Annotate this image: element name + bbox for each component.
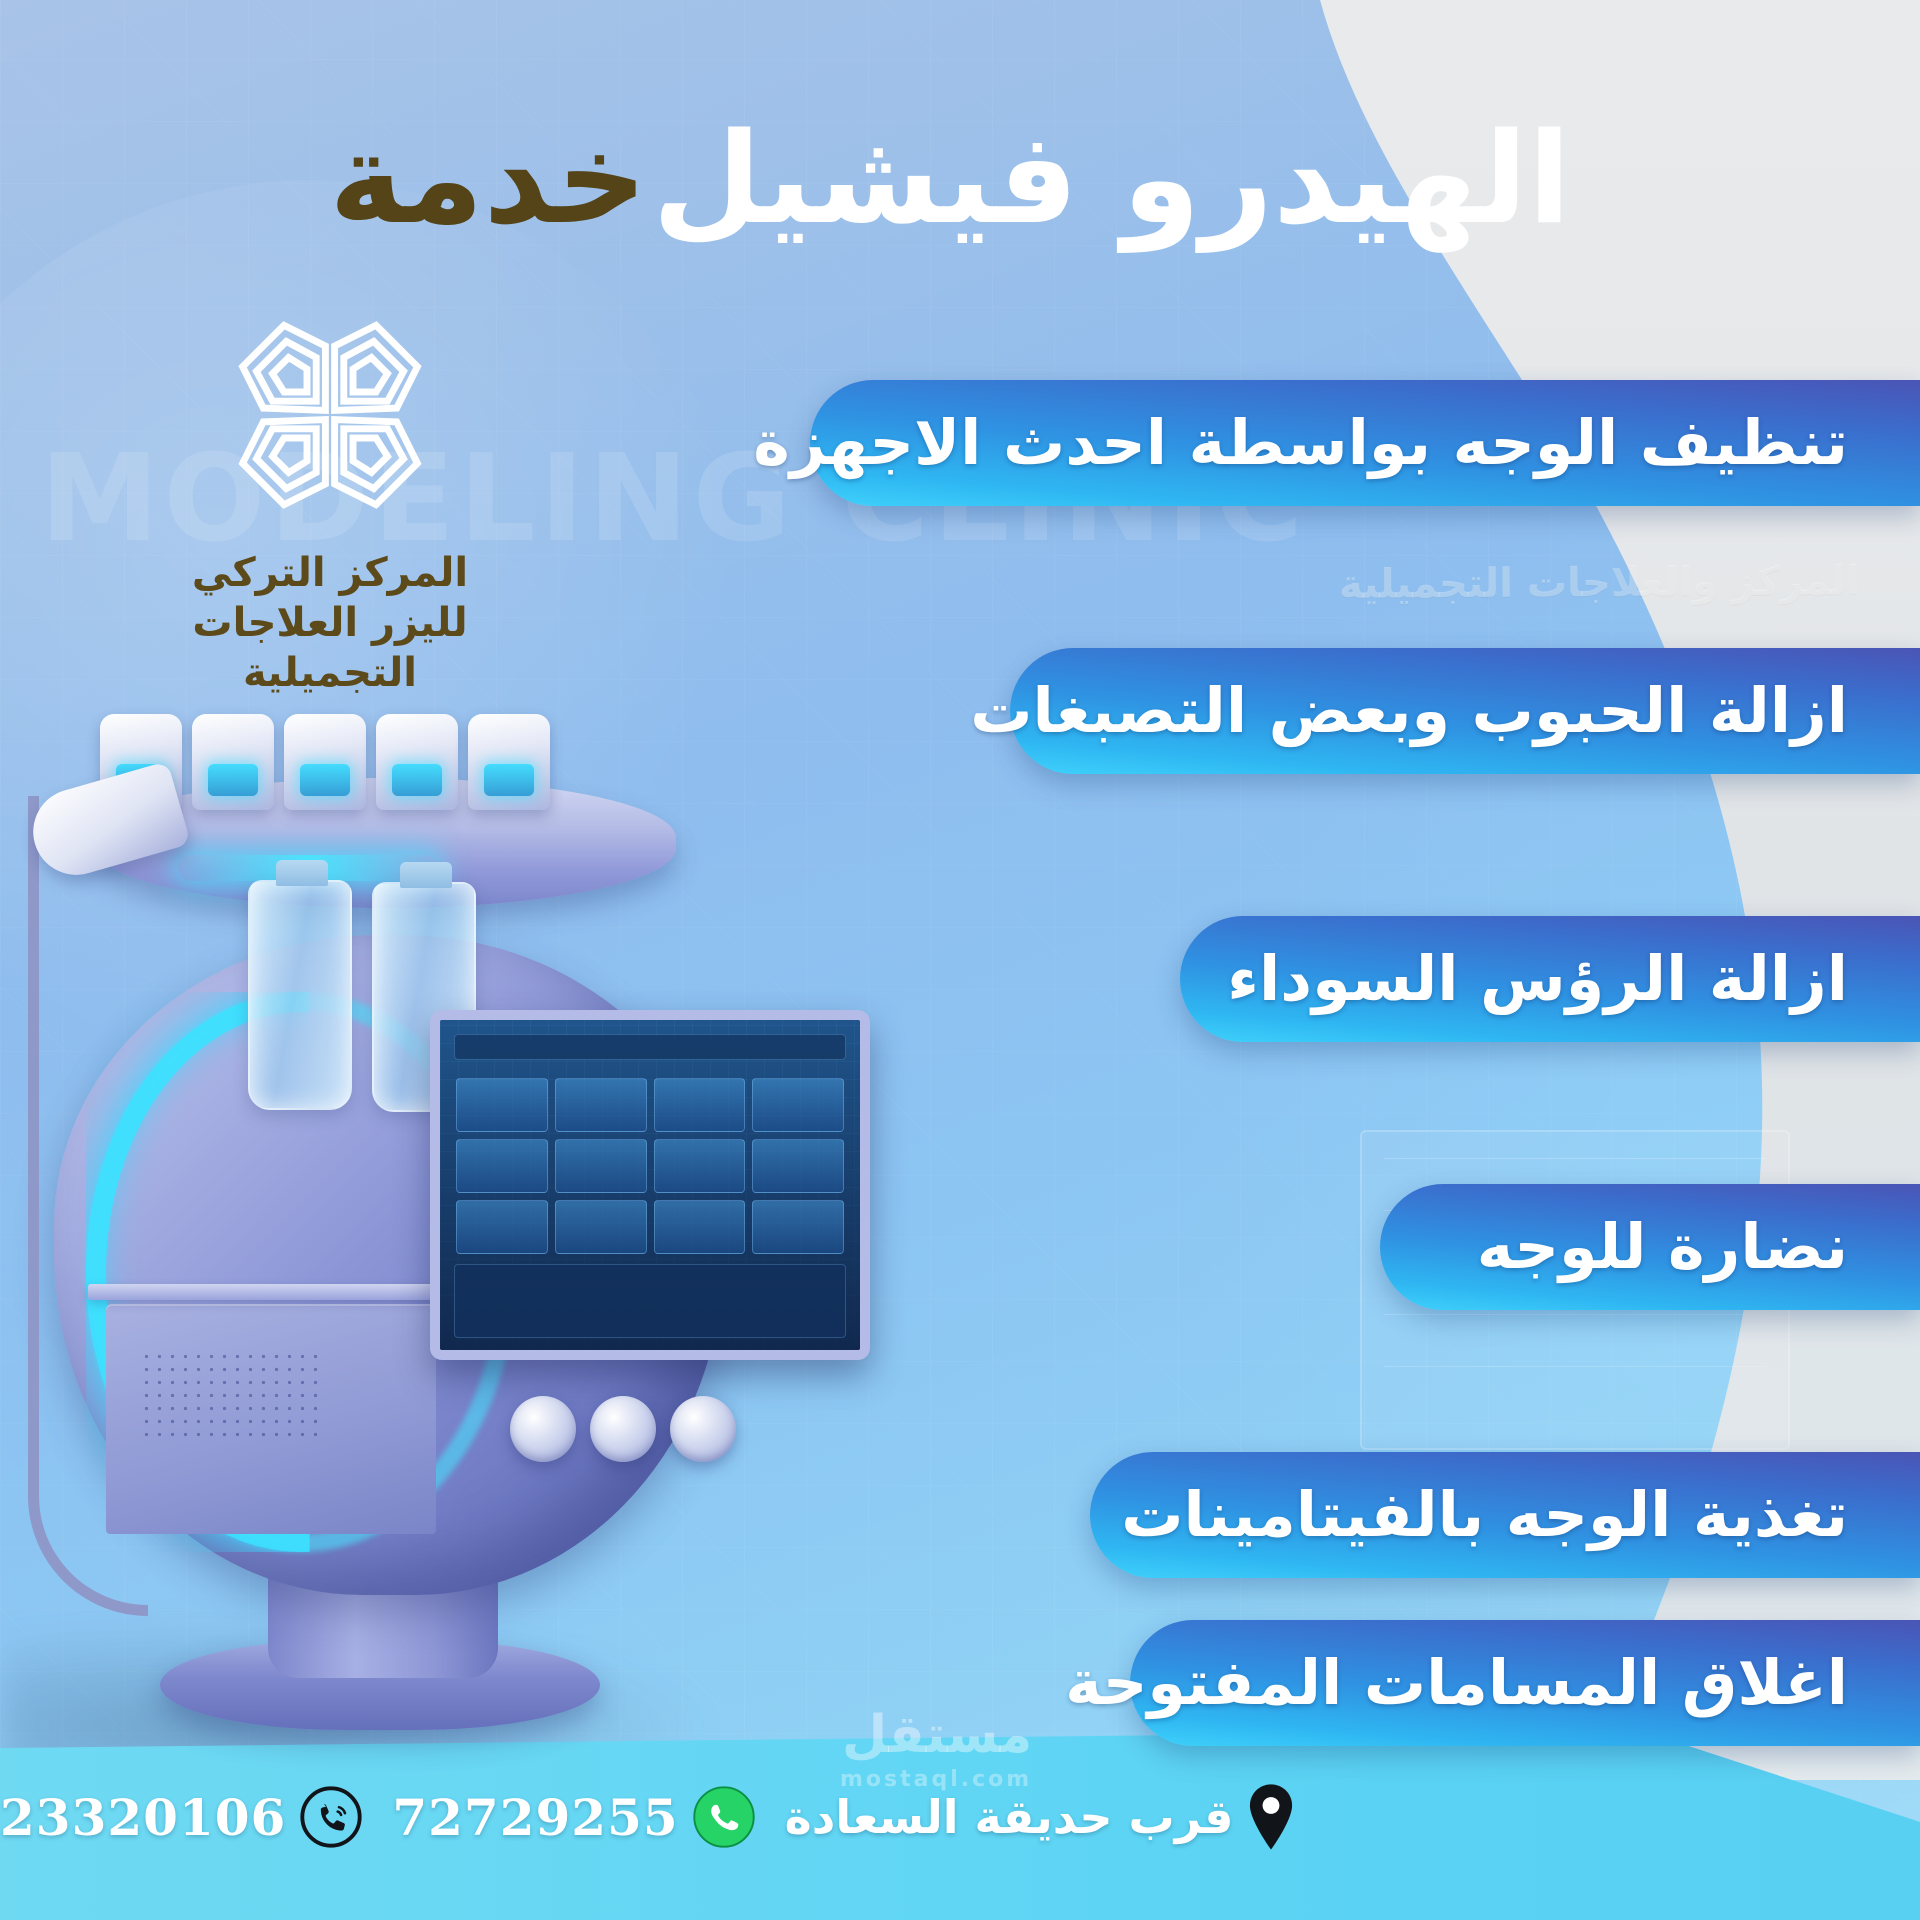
device-speaker-panel (106, 1304, 436, 1534)
poster-root: MODELING CLINIC المركز والعلاجات التجميل… (0, 0, 1920, 1920)
ghost-watermark-headline: المركز والعلاجات التجميلية (1339, 558, 1860, 608)
benefit-pill[interactable]: تنظيف الوجه بواسطة احدث الاجهزة (810, 380, 1920, 506)
benefit-pill[interactable]: ازالة الرؤس السوداء (1180, 916, 1920, 1042)
device-screen-topbar (454, 1034, 846, 1060)
benefit-label: تغذية الوجه بالفيتامينات (1121, 1484, 1848, 1546)
logo-name-line1: المركز التركي (120, 548, 540, 598)
clinic-logo-block: المركز التركي لليزر العلاجات التجميلية (120, 300, 540, 698)
geometric-flower-logo-icon (215, 300, 445, 530)
benefit-pill[interactable]: اغلاق المسامات المفتوحة (1130, 1620, 1920, 1746)
whatsapp-icon (693, 1786, 755, 1848)
benefit-label: نضارة للوجه (1477, 1216, 1848, 1278)
device-handpiece (468, 714, 550, 810)
whatsapp-number: 72729255 (392, 1788, 678, 1847)
logo-name-line2: لليزر العلاجات التجميلية (120, 598, 540, 698)
device-screen-footer (454, 1264, 846, 1338)
device-knob-3 (670, 1396, 736, 1462)
device-cable (28, 796, 148, 1616)
device-handpiece (192, 714, 274, 810)
phone-number: 23320106 (0, 1788, 286, 1847)
device-knob-1 (510, 1396, 576, 1462)
device-handpiece (376, 714, 458, 810)
benefit-label: ازالة الرؤس السوداء (1227, 948, 1848, 1010)
location-label: قرب حديقة السعادة (785, 1790, 1234, 1844)
device-knob-2 (590, 1396, 656, 1462)
device-handpiece (284, 714, 366, 810)
benefit-label: ازالة الحبوب وبعض التصبغات (970, 680, 1848, 742)
benefit-label: اغلاق المسامات المفتوحة (1065, 1652, 1848, 1714)
phone-ring-icon (300, 1786, 362, 1848)
benefit-pill[interactable]: ازالة الحبوب وبعض التصبغات (1010, 648, 1920, 774)
location-pin-icon (1248, 1783, 1294, 1851)
benefit-label: تنظيف الوجه بواسطة احدث الاجهزة (753, 412, 1848, 474)
benefit-pill[interactable]: نضارة للوجه (1380, 1184, 1920, 1310)
device-solution-bottle-1 (248, 880, 352, 1110)
contact-whatsapp[interactable]: 72729255 (392, 1786, 754, 1848)
contact-location[interactable]: قرب حديقة السعادة (785, 1783, 1294, 1851)
device-screen-tiles (456, 1078, 844, 1254)
benefit-pill[interactable]: تغذية الوجه بالفيتامينات (1090, 1452, 1920, 1578)
hydrafacial-device-image (10, 710, 840, 1730)
device-touchscreen (430, 1010, 870, 1360)
contact-phone[interactable]: 23320106 (0, 1786, 362, 1848)
contact-bar: قرب حديقة السعادة 72729255 23320106 (0, 1730, 1920, 1920)
